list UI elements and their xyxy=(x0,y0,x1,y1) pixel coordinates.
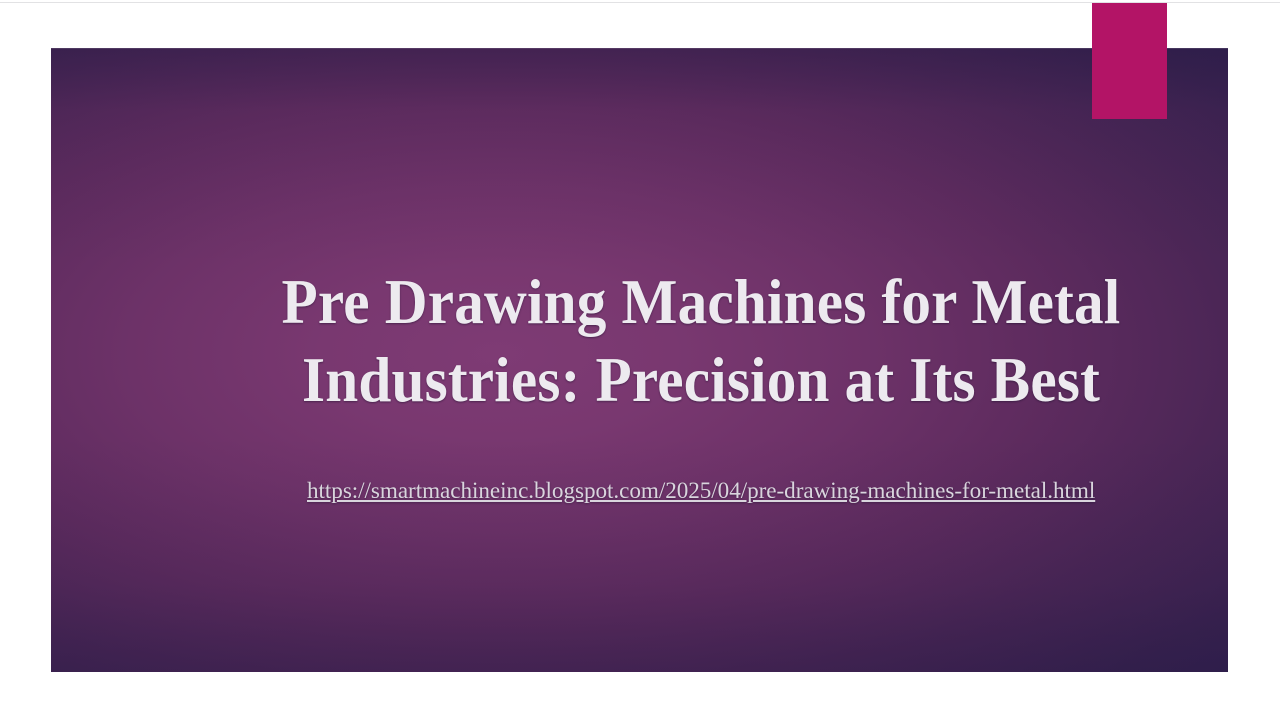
slide-link-row: https://smartmachineinc.blogspot.com/202… xyxy=(201,477,1201,505)
top-divider xyxy=(0,2,1280,3)
slide-canvas: Pre Drawing Machines for Metal Industrie… xyxy=(0,0,1280,720)
slide-text-block: Pre Drawing Machines for Metal Industrie… xyxy=(201,263,1201,505)
source-url-link[interactable]: https://smartmachineinc.blogspot.com/202… xyxy=(307,477,1095,505)
accent-bar-decoration xyxy=(1092,3,1167,119)
presentation-slide: Pre Drawing Machines for Metal Industrie… xyxy=(51,48,1228,672)
slide-title: Pre Drawing Machines for Metal Industrie… xyxy=(231,263,1171,419)
